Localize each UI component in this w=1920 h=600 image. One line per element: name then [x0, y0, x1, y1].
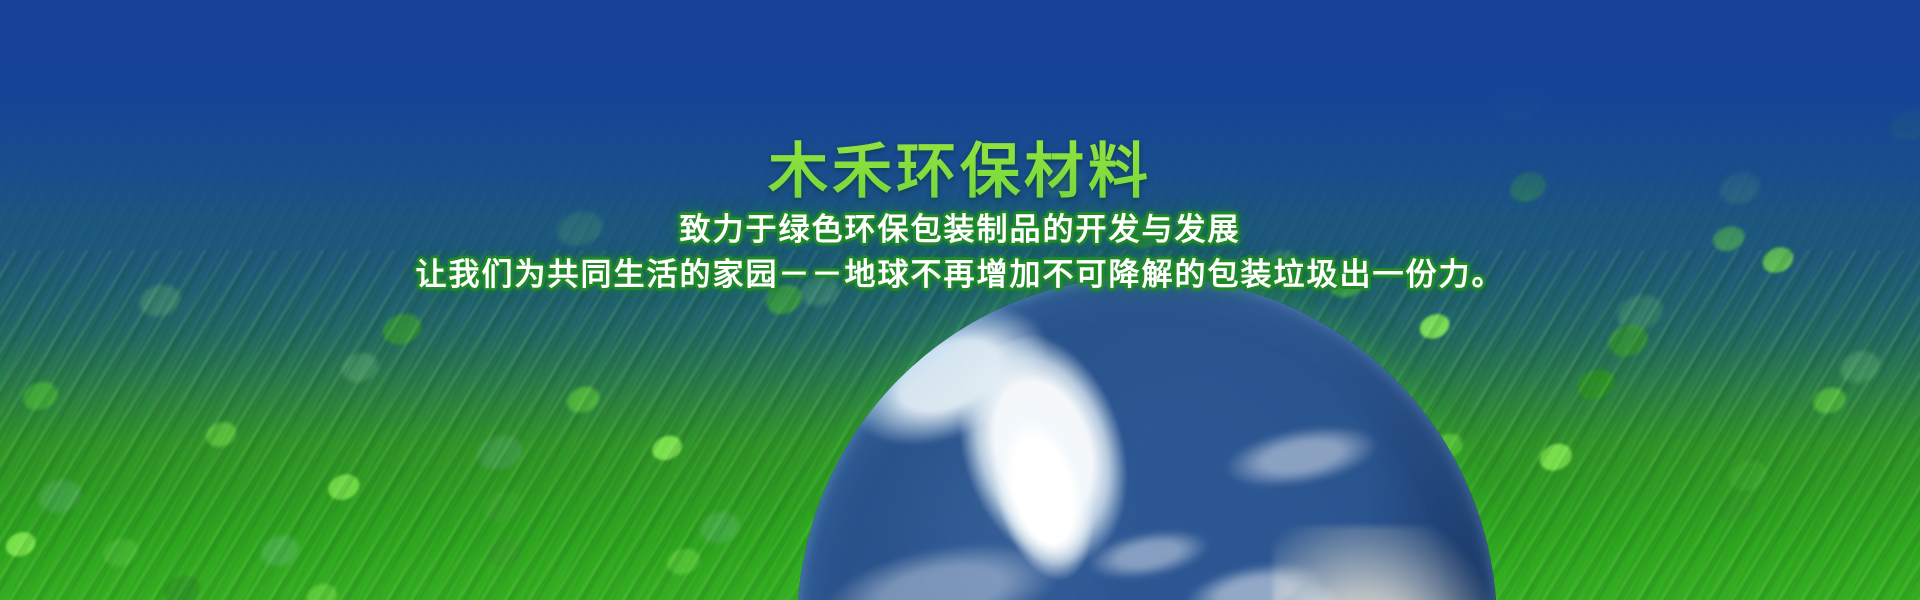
hero-banner: 木禾环保材料 致力于绿色环保包装制品的开发与发展 让我们为共同生活的家园－－地球…	[0, 0, 1920, 600]
banner-copy: 木禾环保材料 致力于绿色环保包装制品的开发与发展 让我们为共同生活的家园－－地球…	[0, 0, 1920, 293]
tagline-line-1: 致力于绿色环保包装制品的开发与发展	[0, 212, 1920, 249]
brand-title: 木禾环保材料	[0, 0, 1920, 202]
tagline-line-2: 让我们为共同生活的家园－－地球不再增加不可降解的包装垃圾出一份力。	[0, 257, 1920, 294]
earth-globe	[797, 276, 1497, 600]
